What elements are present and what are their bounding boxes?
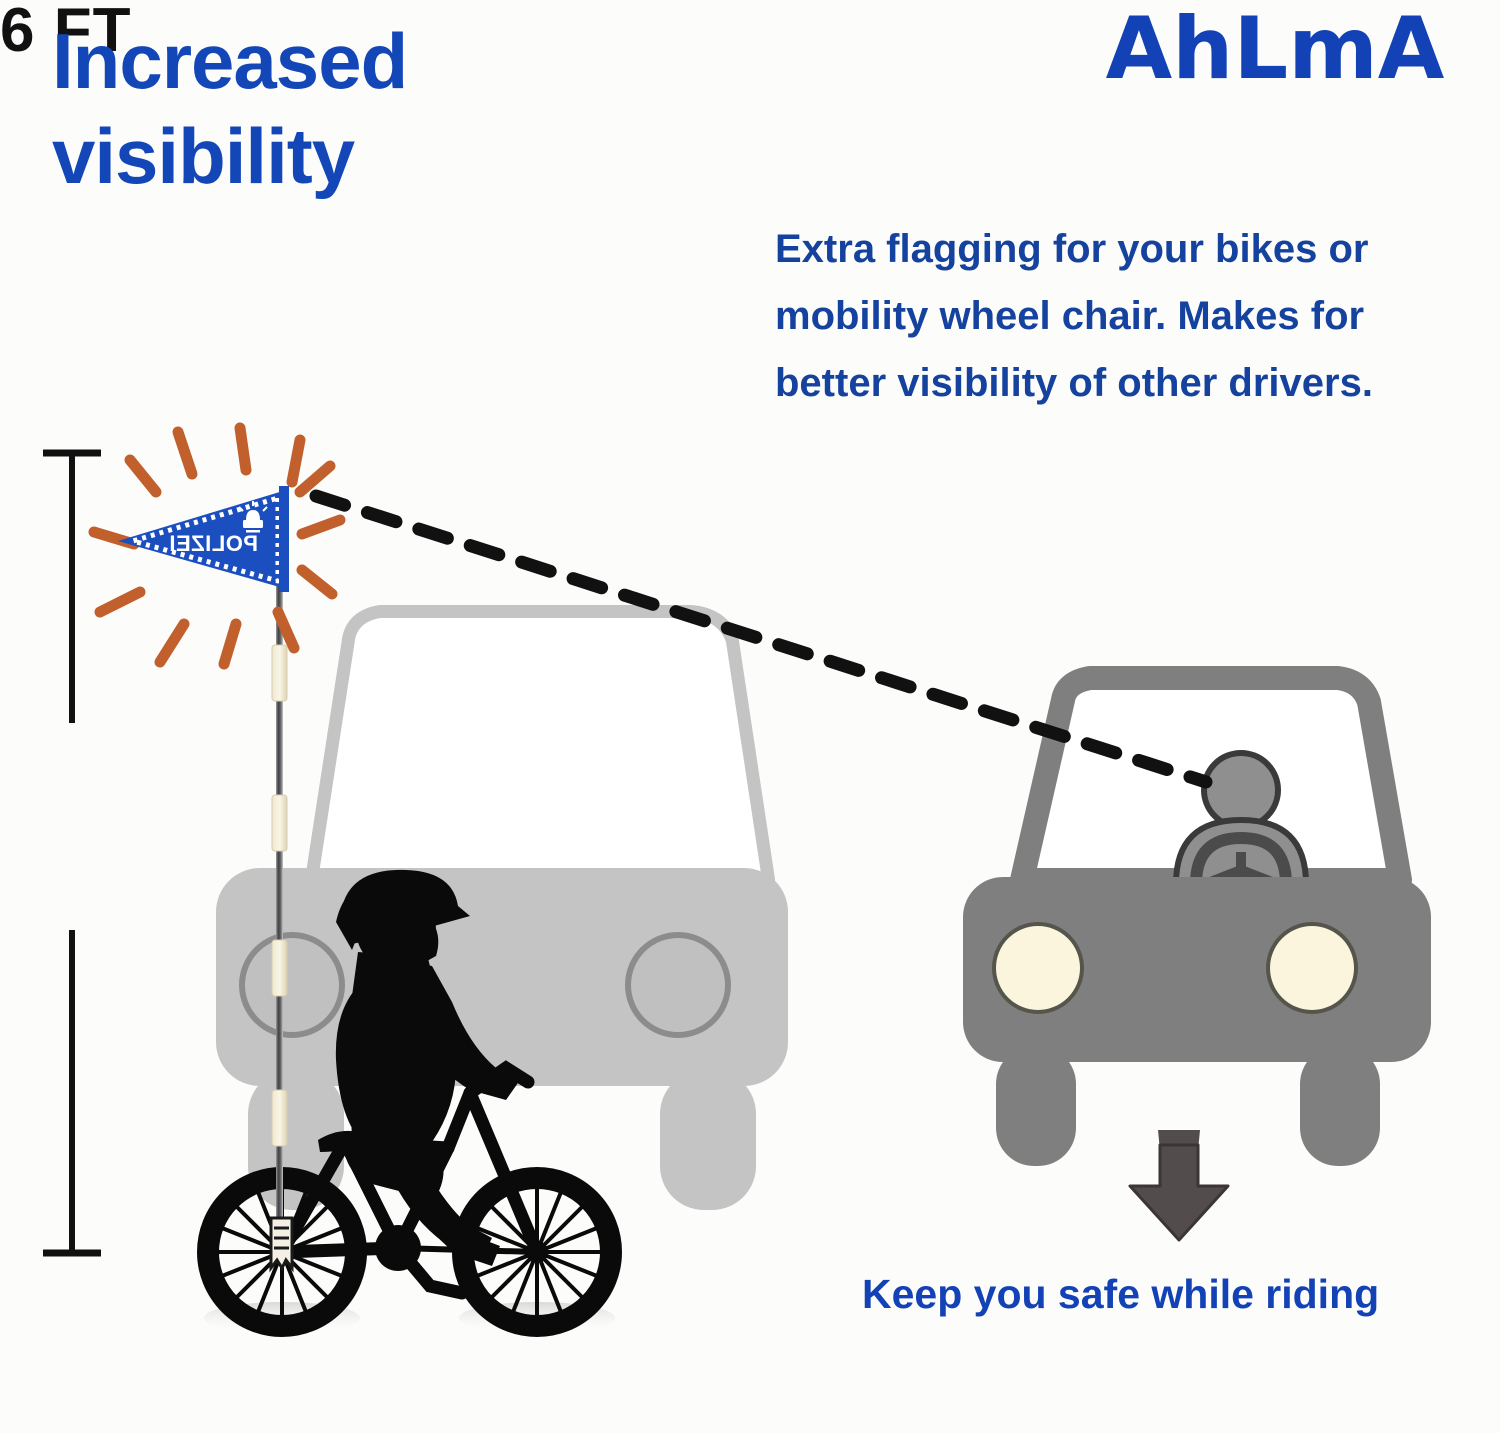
brand-logo: AhLmA — [1060, 6, 1490, 92]
down-arrow-icon — [1130, 1145, 1228, 1240]
pole-joint-4 — [272, 1090, 287, 1146]
headlight-left-icon — [994, 924, 1082, 1012]
safety-caption: Keep you safe while riding — [862, 1272, 1500, 1317]
illustration-canvas: POLIZEI — [0, 0, 1500, 1433]
pole-joint-1 — [272, 645, 287, 701]
product-description: Extra flagging for your bikes or mobilit… — [775, 216, 1480, 418]
page-title: Increased visibility — [52, 14, 692, 204]
pole-joint-2 — [272, 795, 287, 851]
pole-mount-bracket — [271, 1218, 292, 1268]
infographic-page: POLIZEI Increased visibility AhLmA Extra… — [0, 0, 1500, 1433]
background-car-front-view — [216, 617, 788, 1210]
police-flag: POLIZEI — [118, 486, 289, 592]
dimension-line-6ft — [43, 452, 101, 1254]
driver-car-front-view — [963, 678, 1431, 1172]
pole-joint-3 — [272, 940, 287, 996]
driver-head-icon — [1204, 753, 1278, 827]
flag-text: POLIZEI — [169, 531, 258, 556]
headlight-right-icon — [1268, 924, 1356, 1012]
